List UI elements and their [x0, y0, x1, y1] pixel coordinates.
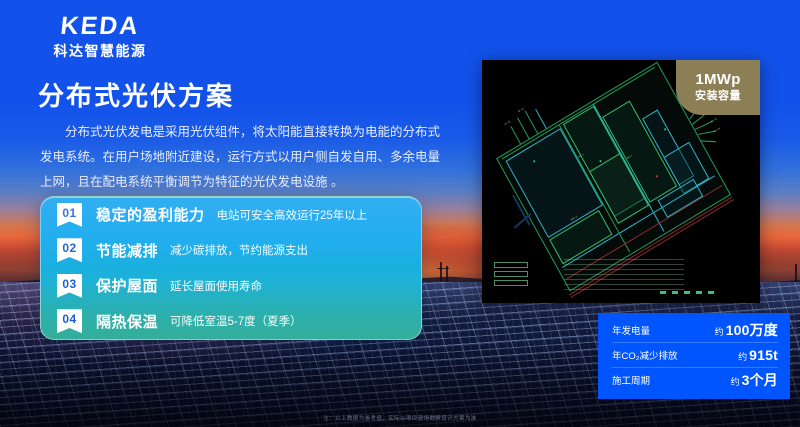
cad-legend — [494, 262, 546, 289]
feature-card: 01 稳定的盈利能力 电站可安全高效运行25年以上 02 节能减排 减少碳排放，… — [40, 196, 422, 340]
stat-prefix: 约 — [738, 350, 747, 363]
cad-label: PV-A3 — [711, 117, 718, 123]
cad-leader — [700, 140, 716, 142]
feature-number-badge: 01 — [57, 203, 82, 227]
feature-description: 减少碳排放，节约能源支出 — [170, 242, 308, 258]
slide-root: KEDA 科达智慧能源 分布式光伏方案 分布式光伏发电是采用光伏组件，将太阳能直… — [0, 0, 800, 427]
feature-title: 保护屋面 — [96, 275, 158, 296]
stat-value-group: 约 915t — [738, 347, 778, 363]
feature-title: 节能减排 — [96, 240, 158, 261]
feature-number: 03 — [62, 278, 76, 290]
footer-note: 注：以上数据为参考值，实际以项目现场勘察设计方案为准 — [0, 414, 800, 422]
feature-number-badge: 03 — [57, 274, 82, 298]
cad-legend-swatch — [494, 262, 528, 268]
stat-label: 年CO₂减少排放 — [612, 348, 677, 362]
feature-number: 04 — [62, 313, 76, 325]
capacity-value: 1MWp — [695, 72, 740, 89]
cad-label: GF-01 — [504, 120, 511, 126]
cad-scale-bar — [660, 291, 720, 294]
capacity-label: 安装容量 — [695, 90, 741, 103]
brand-logo-name: 科达智慧能源 — [26, 44, 174, 58]
cad-label: PV-A4 — [714, 127, 721, 133]
cad-legend-swatch — [494, 271, 528, 277]
cad-legend-swatch — [494, 280, 528, 286]
stat-row: 施工周期 约 3个月 — [598, 367, 790, 392]
feature-number-badge: 02 — [57, 238, 82, 262]
feature-row: 01 稳定的盈利能力 电站可安全高效运行25年以上 — [41, 197, 421, 233]
stats-panel: 年发电量 约 100万度 年CO₂减少排放 约 915t 施工周期 约 3个月 — [598, 313, 790, 399]
brand-logo-mark: KEDA — [25, 14, 176, 39]
cad-leader — [510, 126, 521, 144]
cad-site-plan-panel: GF-01 GF-02 PV-A1 PV-A2 PV-A3 PV-A4 INV-… — [482, 60, 760, 303]
feature-number-badge: 04 — [57, 309, 82, 333]
brand-logo: KEDA 科达智慧能源 — [26, 14, 174, 58]
feature-number: 01 — [62, 207, 76, 219]
stat-prefix: 约 — [731, 375, 740, 388]
stat-value: 3个月 — [742, 370, 778, 390]
feature-title: 稳定的盈利能力 — [96, 204, 205, 225]
feature-title: 隔热保温 — [96, 311, 158, 332]
feature-description: 延长屋面使用寿命 — [170, 278, 262, 294]
cad-leader — [517, 117, 529, 139]
pylon-icon — [795, 264, 797, 284]
cad-leader — [525, 111, 538, 134]
capacity-badge: 1MWp 安装容量 — [676, 60, 760, 115]
stat-value: 100万度 — [726, 320, 778, 340]
intro-paragraph: 分布式光伏发电是采用光伏组件，将太阳能直接转换为电能的分布式发电系统。在用户场地… — [40, 120, 440, 195]
stat-value: 915t — [749, 347, 778, 363]
feature-description: 可降低室温5-7度（夏季） — [170, 313, 302, 329]
pylon-icon — [437, 268, 449, 269]
pylon-icon — [440, 262, 442, 284]
feature-row: 04 隔热保温 可降低室温5-7度（夏季） — [41, 304, 421, 340]
stat-label: 施工周期 — [612, 373, 650, 387]
stat-row: 年发电量 约 100万度 — [598, 317, 790, 342]
feature-row: 03 保护屋面 延长屋面使用寿命 — [41, 268, 421, 304]
stat-label: 年发电量 — [612, 323, 650, 337]
cad-leader — [535, 109, 547, 129]
cad-notes-block — [564, 259, 684, 293]
feature-row: 02 节能减排 减少碳排放，节约能源支出 — [41, 233, 421, 269]
stat-row: 年CO₂减少排放 约 915t — [598, 342, 790, 367]
feature-description: 电站可安全高效运行25年以上 — [217, 207, 368, 223]
stat-value-group: 约 100万度 — [715, 320, 778, 340]
feature-number: 02 — [62, 242, 76, 254]
stat-value-group: 约 3个月 — [731, 370, 778, 390]
page-title: 分布式光伏方案 — [38, 76, 234, 113]
cad-label: GF-02 — [518, 107, 525, 113]
stat-prefix: 约 — [715, 325, 724, 338]
